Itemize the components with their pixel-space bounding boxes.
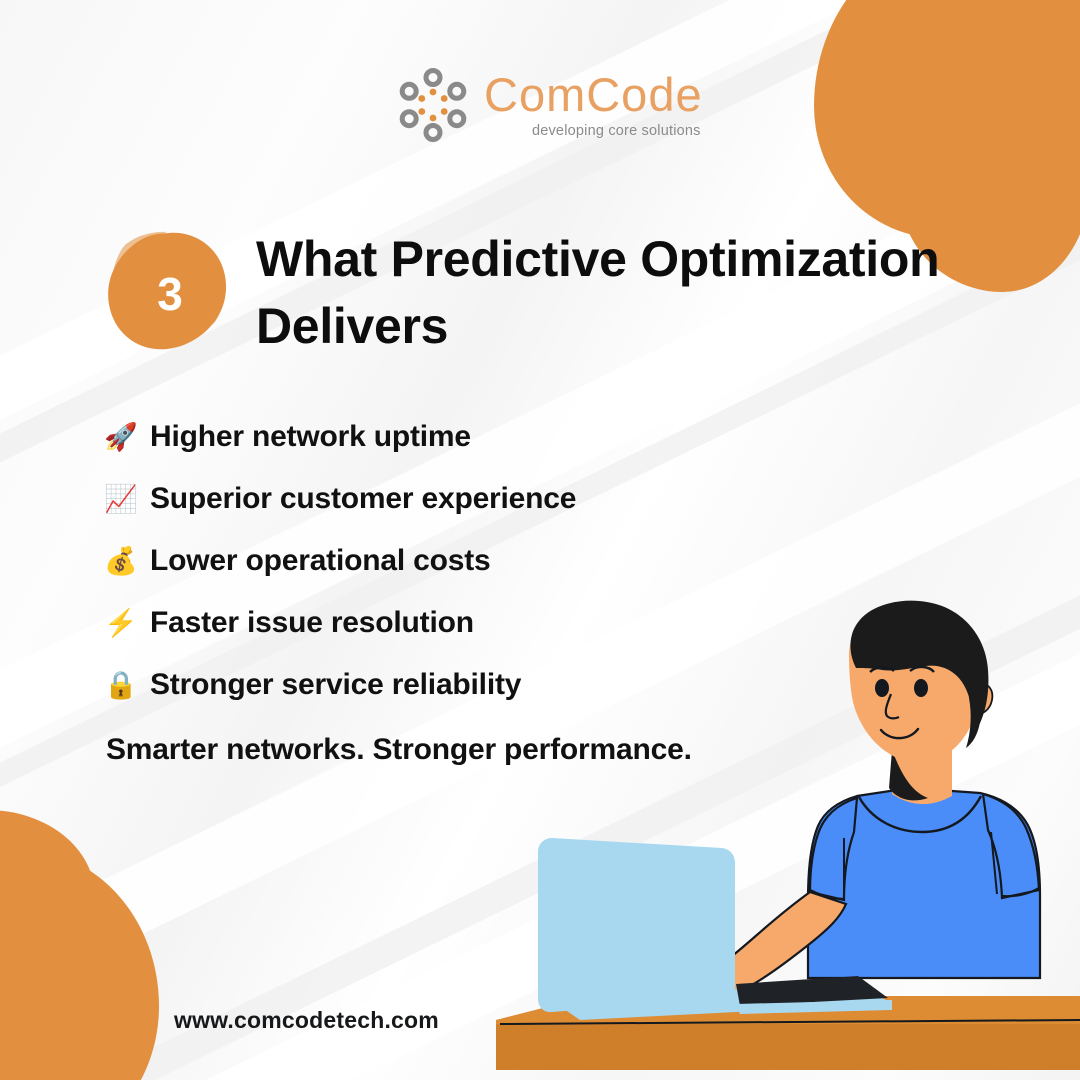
desk-front: [496, 1024, 1080, 1070]
list-item-label: Faster issue resolution: [150, 606, 474, 640]
comcode-dot-circle-logo: [396, 68, 470, 142]
lock-icon: 🔒: [104, 672, 136, 699]
list-item: 📈 Superior customer experience: [104, 468, 884, 530]
page-title: What Predictive Optimization Delivers: [256, 226, 996, 359]
list-item-label: Superior customer experience: [150, 482, 576, 516]
high-voltage-icon: ⚡: [104, 610, 136, 637]
list-item-label: Lower operational costs: [150, 544, 490, 578]
rocket-icon: 🚀: [104, 424, 136, 451]
eye-left: [875, 679, 889, 697]
chart-increasing-icon: 📈: [104, 486, 136, 513]
eye-right: [914, 679, 928, 697]
illustration-artwork: [440, 600, 1080, 1080]
social-post-canvas: ComCode developing core solutions 3 What…: [0, 0, 1080, 1080]
money-bag-icon: 💰: [104, 548, 136, 575]
list-item-label: Higher network uptime: [150, 420, 471, 454]
brand-logo: ComCode developing core solutions: [396, 68, 703, 142]
list-item: 🚀 Higher network uptime: [104, 406, 884, 468]
logo-wordmark: ComCode developing core solutions: [484, 71, 703, 139]
step-number: 3: [107, 231, 229, 353]
person-typing-illustration: [440, 600, 1080, 1080]
step-number-badge: 3: [107, 231, 229, 353]
logo-tagline: developing core solutions: [532, 124, 703, 139]
logo-name: ComCode: [484, 71, 703, 118]
list-item: 💰 Lower operational costs: [104, 530, 884, 592]
laptop-screen: [538, 838, 735, 1012]
website-url[interactable]: www.comcodetech.com: [174, 1007, 439, 1034]
